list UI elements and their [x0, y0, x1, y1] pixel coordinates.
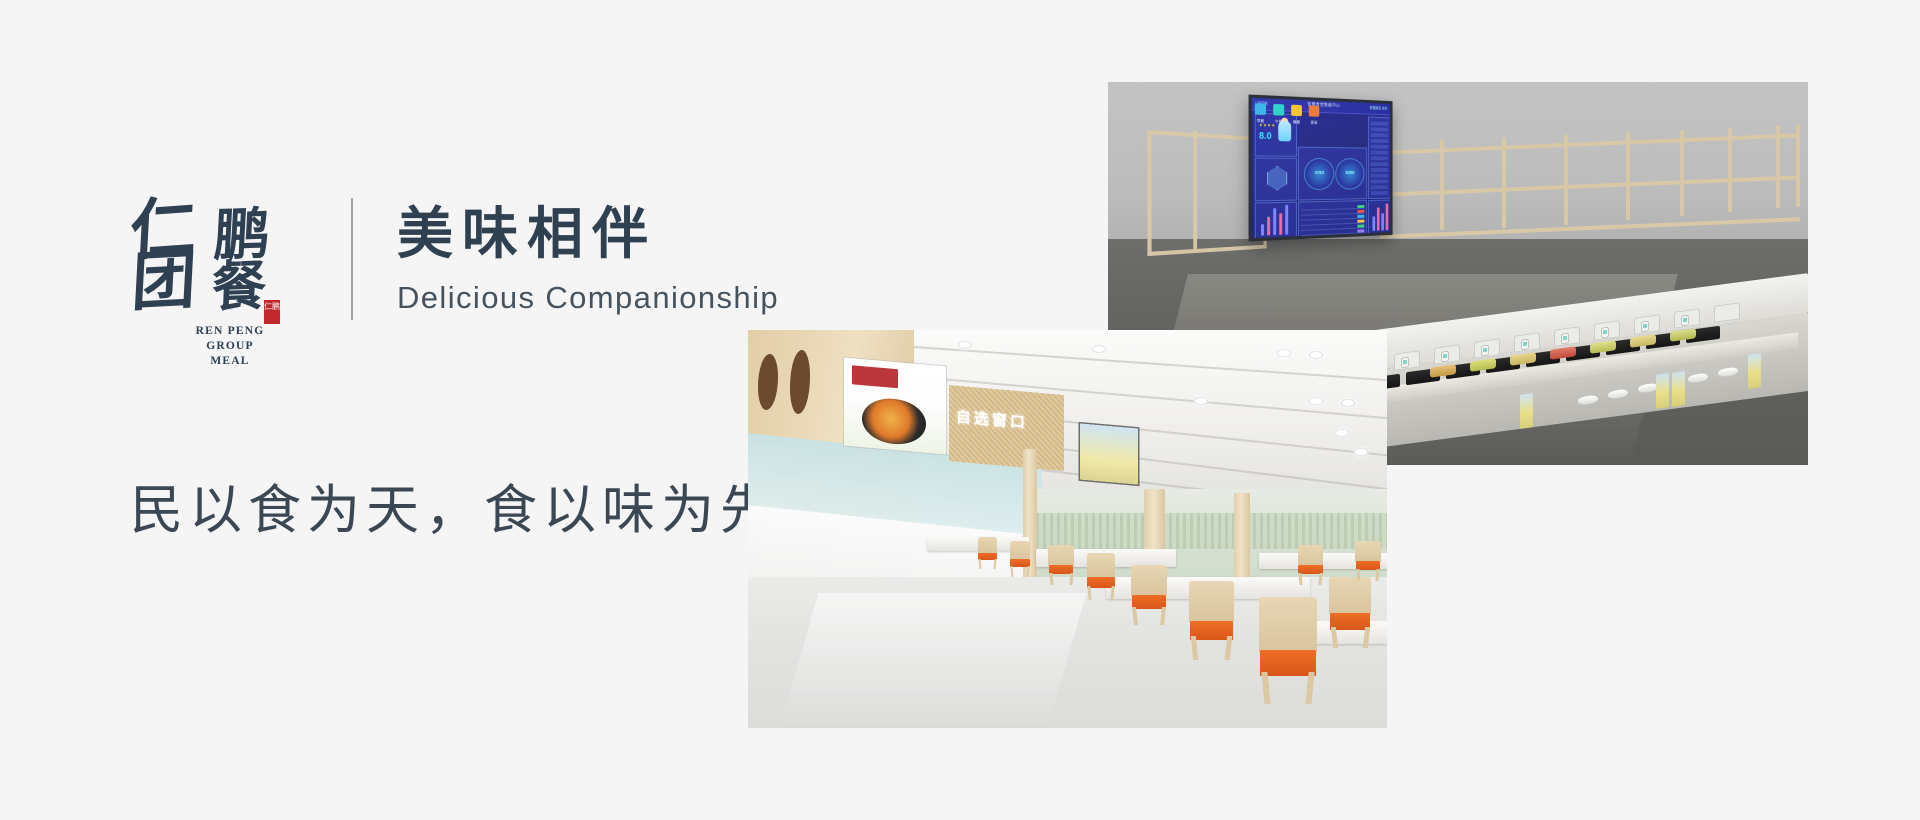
menu-poster — [1672, 371, 1685, 407]
chair-leg — [1088, 586, 1093, 600]
chair-back — [1087, 553, 1116, 578]
chair-back — [1298, 545, 1324, 566]
vertical-divider — [351, 198, 353, 320]
list-item — [1371, 162, 1389, 166]
rail-post — [1564, 135, 1568, 225]
canteen-brand-signboard — [844, 357, 946, 453]
chair-back — [1048, 545, 1074, 566]
bar-column — [1285, 205, 1288, 235]
meal-card: 晚餐 — [1289, 102, 1304, 129]
chair-leg — [1011, 566, 1014, 577]
dining-chair — [1189, 581, 1234, 661]
meal-card-label: 夜宵 — [1307, 120, 1321, 125]
status-chip — [1357, 215, 1364, 218]
meal-card-label: 早餐 — [1253, 119, 1268, 125]
dining-chair — [1259, 597, 1317, 704]
bar-column — [1373, 216, 1376, 231]
bar-column — [1386, 203, 1389, 230]
status-chip — [1357, 220, 1364, 223]
electronic-price-tag — [1682, 316, 1688, 326]
bar-column — [1261, 224, 1264, 236]
chair-leg — [1331, 627, 1338, 648]
chair-leg — [1110, 586, 1115, 600]
list-item — [1371, 174, 1389, 178]
electronic-price-tag — [1442, 352, 1448, 362]
chair-leg — [1069, 573, 1073, 585]
menu-poster — [1656, 373, 1669, 409]
dashboard-status-label: 数据概览 实时 — [1370, 105, 1388, 111]
dashboard-score-value: 8.0 — [1259, 130, 1272, 141]
meal-card: 夜宵 — [1307, 102, 1321, 129]
chair-back — [1355, 541, 1381, 562]
dining-chair — [1087, 553, 1116, 601]
headline-chinese: 美味相伴 — [397, 204, 779, 264]
dining-chair — [1010, 541, 1030, 577]
dashboard-panel-bar-right — [1368, 200, 1390, 235]
list-item — [1371, 145, 1389, 149]
dashboard-panel-radar — [1255, 158, 1297, 202]
list-item — [1371, 185, 1389, 189]
headline-block: 美味相伴 Delicious Companionship — [397, 196, 779, 316]
chair-back — [1259, 597, 1317, 653]
meal-card-label: 晚餐 — [1289, 120, 1304, 126]
canteen-floor-reflection — [780, 593, 1087, 728]
electronic-price-tag — [1642, 322, 1648, 332]
canteen-menu-screen — [1080, 423, 1138, 484]
ceiling-downlight — [1310, 398, 1322, 404]
dining-chair — [978, 537, 997, 569]
logo-char-xiang: 餐 — [211, 259, 265, 315]
status-chip — [1357, 205, 1364, 208]
chair-leg — [1261, 672, 1271, 704]
sneeze-guard — [1714, 302, 1740, 322]
chair-seat-cushion — [1260, 650, 1315, 676]
ceiling-downlight — [1093, 346, 1105, 352]
bar-column — [1377, 207, 1380, 230]
rail-post — [1680, 130, 1684, 216]
electronic-price-tag — [1562, 334, 1568, 344]
banner-stage: 仁 鹏 团 餐 仁鹏 REN PENG GROUP MEAL 美味相伴 Deli… — [0, 0, 1920, 820]
status-chip — [1357, 224, 1364, 227]
bar-column — [1279, 213, 1282, 235]
logo-english-line2: GROUP — [182, 339, 278, 354]
logo-english-text: REN PENG GROUP MEAL — [182, 324, 278, 369]
logo-char-tuan: 团 — [130, 248, 196, 315]
chair-leg — [1305, 672, 1315, 704]
sign-food-photo — [862, 396, 925, 447]
chair-leg — [1026, 566, 1029, 577]
ceiling-downlight — [959, 342, 971, 348]
dining-chair — [1048, 545, 1074, 585]
chair-leg — [1190, 636, 1197, 660]
ceiling-downlight — [1336, 430, 1348, 436]
dining-chair — [1329, 577, 1371, 649]
canteen-window-sign-text: 自选窗口 — [956, 405, 1028, 432]
gauge-value: 8286 — [1336, 170, 1363, 175]
status-chip — [1357, 229, 1364, 232]
meal-card: 午餐 — [1271, 101, 1286, 128]
rail-post — [1796, 125, 1800, 207]
rail-post — [1776, 126, 1780, 208]
menu-poster — [1748, 353, 1761, 389]
ceiling-downlight — [1342, 400, 1354, 406]
logo-english-line3: MEAL — [182, 354, 278, 369]
ceiling-downlight — [1195, 398, 1207, 404]
bar-column — [1381, 213, 1384, 230]
list-item — [1371, 191, 1389, 195]
gauge-value: 4763 — [1305, 170, 1334, 175]
chair-back — [1189, 581, 1234, 622]
chair-leg — [1298, 573, 1302, 585]
list-item — [1371, 156, 1389, 160]
rail-post — [1728, 128, 1732, 212]
meal-card: 早餐 — [1253, 100, 1268, 128]
chair-leg — [979, 559, 982, 569]
list-item — [1371, 139, 1389, 143]
list-item — [1371, 168, 1389, 172]
chair-leg — [993, 559, 996, 569]
rail-post — [1626, 132, 1630, 220]
electronic-price-tag — [1402, 358, 1408, 368]
status-chip — [1357, 210, 1364, 213]
gauge-widget: 8286 — [1335, 158, 1364, 190]
list-item — [1371, 127, 1389, 131]
dashboard-panel-gauges: 4763 8286 — [1298, 147, 1367, 201]
menu-poster — [1520, 393, 1533, 429]
dashboard-display-screen: 仁鹏团餐 智慧食堂数据中心 数据概览 实时 ★★★★ 8.0 — [1249, 95, 1393, 242]
chair-leg — [1356, 569, 1360, 581]
canteen-window-sign: 自选窗口 — [949, 385, 1064, 471]
dashboard-panel-table — [1298, 200, 1367, 238]
dashboard-panel-bar-left — [1255, 202, 1297, 239]
chair-leg — [1376, 569, 1380, 581]
brand-row: 仁 鹏 团 餐 仁鹏 REN PENG GROUP MEAL 美味相伴 Deli… — [128, 196, 779, 351]
chair-leg — [1049, 573, 1053, 585]
ceiling-downlight — [1310, 352, 1322, 358]
bar-column — [1267, 217, 1270, 236]
brand-sign-logo — [852, 365, 898, 388]
chair-leg — [1225, 636, 1232, 660]
list-item — [1371, 133, 1389, 137]
chair-leg — [1133, 607, 1139, 625]
render-pergola-rail — [1380, 140, 1800, 236]
rail-post — [1440, 140, 1444, 230]
dining-chair — [1131, 565, 1166, 625]
chair-back — [1329, 577, 1371, 614]
radar-hexagon-icon — [1267, 166, 1287, 191]
gauge-widget: 4763 — [1304, 158, 1334, 190]
chair-leg — [1160, 607, 1166, 625]
headline-english: Delicious Companionship — [397, 280, 779, 316]
canteen-greenery-strip — [1029, 513, 1387, 549]
dashboard-panel-list — [1368, 117, 1390, 200]
red-seal-stamp: 仁鹏 — [264, 300, 280, 324]
list-item — [1371, 121, 1389, 125]
chair-back — [1131, 565, 1166, 596]
chair-leg — [1363, 627, 1370, 648]
chair-back — [1010, 541, 1030, 560]
dining-chair — [1355, 541, 1381, 581]
chair-back — [978, 537, 997, 554]
electronic-price-tag — [1522, 340, 1528, 350]
list-item — [1371, 151, 1389, 155]
tagline-text: 民以食为天，食以味为先 — [130, 468, 779, 544]
canteen-interior-photo: 自选窗口 — [748, 330, 1387, 728]
rail-post — [1502, 138, 1506, 228]
electronic-price-tag — [1482, 346, 1488, 356]
electronic-price-tag — [1602, 328, 1608, 338]
chair-seat-cushion — [1132, 595, 1166, 609]
logo-english-line1: REN PENG — [182, 324, 278, 339]
bar-column — [1273, 208, 1276, 235]
brand-logo: 仁 鹏 团 餐 仁鹏 REN PENG GROUP MEAL — [128, 196, 303, 351]
list-item — [1371, 179, 1389, 183]
dining-chair — [1298, 545, 1324, 585]
meal-card-label: 午餐 — [1271, 119, 1286, 125]
dashboard-screen-content: 仁鹏团餐 智慧食堂数据中心 数据概览 实时 ★★★★ 8.0 — [1252, 98, 1390, 238]
chair-leg — [1318, 573, 1322, 585]
